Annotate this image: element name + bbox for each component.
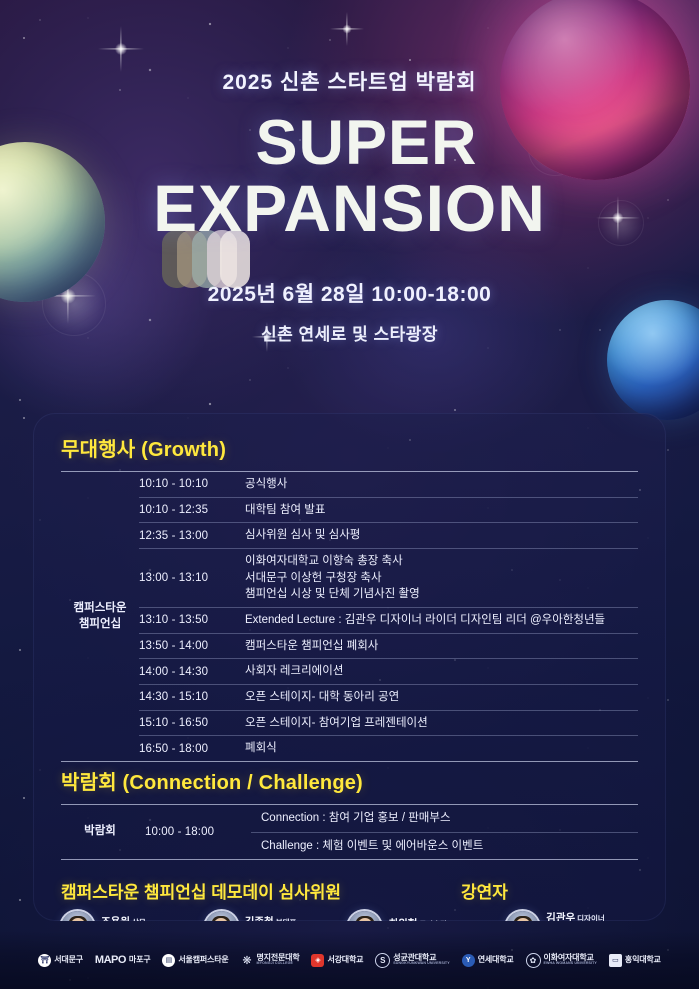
judge-card: 조용원상무 노틸러스인베스트먼트 xyxy=(61,911,205,921)
row-time: 13:50 - 14:00 xyxy=(139,633,245,659)
expo-schedule-table: 박람회 10:00 - 18:00 Connection : 참여 기업 홍보 … xyxy=(61,805,638,859)
hongik-icon: ▭ xyxy=(609,954,622,967)
sponsor-name: 홍익대학교 xyxy=(625,956,661,964)
person-name-text: 김종철 xyxy=(245,916,274,921)
sponsor-name: 성균관대학교SUNGKYUNKWAN UNIVERSITY xyxy=(393,954,449,966)
sponsor-name: 서울캠퍼스타운 xyxy=(178,956,228,964)
campustown-icon: ▤ xyxy=(162,954,175,967)
table-row: 12:35 - 13:00 심사위원 심사 및 심사평 xyxy=(61,523,638,549)
ewha-icon: ✿ xyxy=(526,953,541,968)
table-row: 16:50 - 18:00 폐회식 xyxy=(61,736,638,761)
divider xyxy=(61,761,638,762)
sponsor-sub: SUNGKYUNKWAN UNIVERSITY xyxy=(393,962,449,966)
sponsor-logo-skku: S 성균관대학교SUNGKYUNKWAN UNIVERSITY xyxy=(375,953,449,968)
row-desc: 대학팀 참여 발표 xyxy=(245,497,638,523)
stage-schedule-table: 캠퍼스타운 챔피언십 10:10 - 10:10 공식행사 10:10 - 12… xyxy=(61,472,638,761)
sponsor-logo-myongji: ❋ 명지전문대학MYONGJI COLLEGE xyxy=(241,954,300,967)
row-desc-line: 챔피언십 시상 및 단체 기념사진 촬영 xyxy=(245,586,638,603)
row-desc: Extended Lecture : 김관우 디자이너 라이더 디자인팀 리더 … xyxy=(245,608,638,634)
judge-card: 김종철부대표 인포뱅크 iAccel xyxy=(205,911,349,921)
row-desc: 오픈 스테이지- 참여기업 프레젠테이션 xyxy=(245,710,638,736)
sponsor-logo-mapo: MAPO 마포구 xyxy=(95,954,150,966)
sponsor-name: 명지전문대학MYONGJI COLLEGE xyxy=(257,954,300,966)
avatar xyxy=(61,911,94,921)
table-row: 14:00 - 14:30 사회자 레크리에이션 xyxy=(61,659,638,685)
stage-category-line2: 챔피언십 xyxy=(61,617,139,633)
sponsor-logo-hongik: ▭ 홍익대학교 xyxy=(609,954,661,967)
sponsor-name: 마포구 xyxy=(129,956,150,964)
expo-time: 10:00 - 18:00 xyxy=(139,805,251,859)
logo-line-expansion: EXPANSION xyxy=(0,176,699,241)
speaker-title: 강연자 xyxy=(461,878,508,903)
row-desc: Challenge : 체험 이벤트 및 에어바운스 이벤트 xyxy=(251,832,638,859)
schedule-panel: 무대행사 (Growth) 캠퍼스타운 챔피언십 10:10 - 10:10 공… xyxy=(33,413,666,921)
sponsor-logo-ewha: ✿ 이화여자대학교EWHA WOMANS UNIVERSITY xyxy=(526,953,597,968)
person-name-text: 최원혁 xyxy=(388,918,417,921)
row-time: 14:00 - 14:30 xyxy=(139,659,245,685)
row-time: 14:30 - 15:10 xyxy=(139,685,245,711)
row-desc-line: 이화여자대학교 이향숙 총장 축사 xyxy=(245,553,638,570)
row-time: 15:10 - 16:50 xyxy=(139,710,245,736)
event-subinfo: 2025년 6월 28일 10:00-18:00 신촌 연세로 및 스타광장 xyxy=(0,278,699,345)
sponsor-sub: MYONGJI COLLEGE xyxy=(257,962,300,966)
sponsor-logo-sogang: ◈ 서강대학교 xyxy=(311,954,363,967)
people-headings: 캠퍼스타운 챔피언십 데모데이 심사위원 강연자 xyxy=(61,878,638,903)
mapo-wordmark-icon: MAPO xyxy=(95,954,126,966)
stage-section-title: 무대행사 (Growth) xyxy=(61,433,638,462)
event-date: 2025년 6월 28일 10:00-18:00 xyxy=(0,278,699,308)
person-name: 김관우디자이너 xyxy=(546,912,638,921)
row-desc: 이화여자대학교 이향숙 총장 축사 서대문구 이상헌 구청장 축사 챔피언십 시… xyxy=(245,549,638,608)
sogang-icon: ◈ xyxy=(311,954,324,967)
table-row: 13:00 - 13:10 이화여자대학교 이향숙 총장 축사 서대문구 이상헌… xyxy=(61,549,638,608)
sponsor-logo-yonsei: Y 연세대학교 xyxy=(462,954,514,967)
row-desc-line: 서대문구 이상헌 구청장 축사 xyxy=(245,570,638,587)
stage-category-line1: 캠퍼스타운 xyxy=(61,601,139,617)
person-role: 상무 xyxy=(132,918,146,921)
table-row: 14:30 - 15:10 오픈 스테이지- 대학 동아리 공연 xyxy=(61,685,638,711)
expo-category-cell: 박람회 xyxy=(61,805,139,859)
judges-title: 캠퍼스타운 챔피언십 데모데이 심사위원 xyxy=(61,878,461,903)
event-place: 신촌 연세로 및 스타광장 xyxy=(0,320,699,345)
event-kicker: 2025 신촌 스타트업 박람회 xyxy=(0,66,699,96)
logo-line-super: SUPER xyxy=(0,112,699,174)
row-desc: 폐회식 xyxy=(245,736,638,761)
divider xyxy=(61,859,638,860)
avatar xyxy=(506,911,539,921)
poster-header: 2025 신촌 스타트업 박람회 SUPER EXPANSION 2025년 6… xyxy=(0,0,699,345)
sponsor-name: 서강대학교 xyxy=(327,956,363,964)
row-time: 13:00 - 13:10 xyxy=(139,549,245,608)
avatar xyxy=(205,911,238,921)
poster-canvas: 2025 신촌 스타트업 박람회 SUPER EXPANSION 2025년 6… xyxy=(0,0,699,989)
sponsor-logo-campustown: ▤ 서울캠퍼스타운 xyxy=(162,954,228,967)
table-row: 13:10 - 13:50 Extended Lecture : 김관우 디자이… xyxy=(61,608,638,634)
people-row: 조용원상무 노틸러스인베스트먼트 김종철부대표 인포뱅크 iAccel 최원혁투… xyxy=(61,911,638,921)
row-desc: Connection : 참여 기업 홍보 / 판매부스 xyxy=(251,805,638,832)
table-row: 10:10 - 12:35 대학팀 참여 발표 xyxy=(61,497,638,523)
sponsor-name: 연세대학교 xyxy=(478,956,514,964)
sdm-emblem-icon: ⛩ xyxy=(38,954,51,967)
stage-category-cell: 캠퍼스타운 챔피언십 xyxy=(61,472,139,761)
sponsor-footer: ⛩ 서대문구 MAPO 마포구 ▤ 서울캠퍼스타운 ❋ 명지전문대학MYONGJ… xyxy=(0,931,699,989)
row-time: 10:10 - 10:10 xyxy=(139,472,245,497)
person-name: 김종철부대표 xyxy=(245,916,297,921)
table-row: 15:10 - 16:50 오픈 스테이지- 참여기업 프레젠테이션 xyxy=(61,710,638,736)
row-desc: 오픈 스테이지- 대학 동아리 공연 xyxy=(245,685,638,711)
row-time: 13:10 - 13:50 xyxy=(139,608,245,634)
avatar xyxy=(348,911,381,921)
logo-block: SUPER EXPANSION xyxy=(0,112,699,242)
row-time: 10:10 - 12:35 xyxy=(139,497,245,523)
sponsor-name: 이화여자대학교EWHA WOMANS UNIVERSITY xyxy=(544,954,597,966)
table-row: 13:50 - 14:00 캠퍼스타운 챔피언십 폐회사 xyxy=(61,633,638,659)
skku-icon: S xyxy=(375,953,390,968)
table-row: 캠퍼스타운 챔피언십 10:10 - 10:10 공식행사 xyxy=(61,472,638,497)
person-name-text: 조용원 xyxy=(101,916,130,921)
expo-section-title: 박람회 (Connection / Challenge) xyxy=(61,766,638,795)
person-role: 디자이너 xyxy=(577,914,605,921)
sponsor-logo-seodaemun: ⛩ 서대문구 xyxy=(38,954,83,967)
person-name: 최원혁투자총괄 xyxy=(388,918,447,921)
table-row: 박람회 10:00 - 18:00 Connection : 참여 기업 홍보 … xyxy=(61,805,638,832)
sponsor-sub: EWHA WOMANS UNIVERSITY xyxy=(544,962,597,966)
row-time: 16:50 - 18:00 xyxy=(139,736,245,761)
row-desc: 공식행사 xyxy=(245,472,638,497)
person-name: 조용원상무 xyxy=(101,916,157,921)
yonsei-icon: Y xyxy=(462,954,475,967)
row-desc: 사회자 레크리에이션 xyxy=(245,659,638,685)
sponsor-name: 서대문구 xyxy=(54,956,83,964)
speaker-card: 김관우디자이너 라이더 디자인팀 리더 @우아한청년들 xyxy=(506,911,638,921)
row-desc: 심사위원 심사 및 심사평 xyxy=(245,523,638,549)
myongji-icon: ❋ xyxy=(241,954,254,967)
row-desc: 캠퍼스타운 챔피언십 폐회사 xyxy=(245,633,638,659)
person-name-text: 김관우 xyxy=(546,912,575,921)
judge-card: 최원혁투자총괄 UNTG xyxy=(348,911,492,921)
person-role: 투자총괄 xyxy=(419,920,447,921)
row-time: 12:35 - 13:00 xyxy=(139,523,245,549)
person-role: 부대표 xyxy=(276,918,297,921)
